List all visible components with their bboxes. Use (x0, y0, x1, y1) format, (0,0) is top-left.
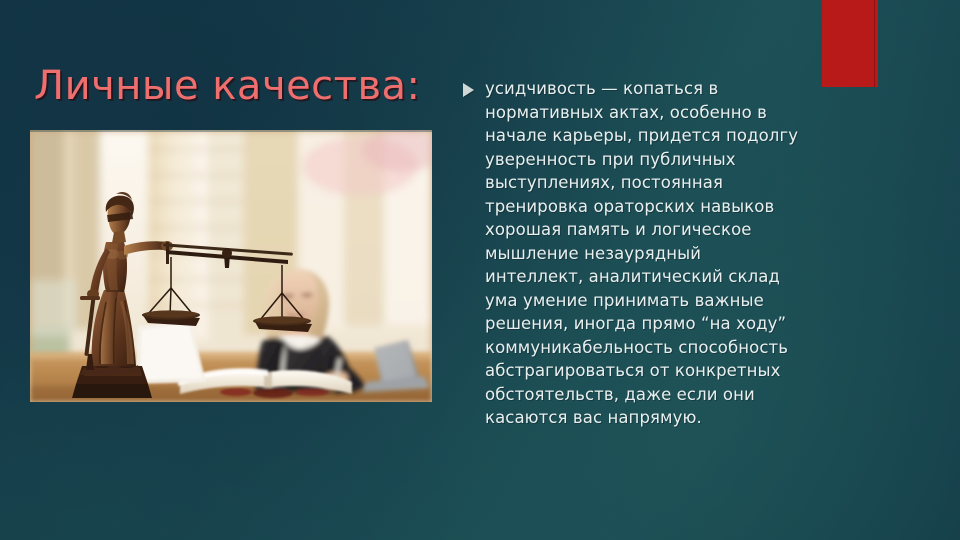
slide-title: Личные качества: (34, 63, 421, 109)
photo-illustration (30, 130, 432, 402)
triangle-bullet-icon (463, 83, 474, 97)
red-accent-block (822, 0, 878, 87)
bullet-content-block: усидчивость — копаться в нормативных акт… (463, 77, 803, 430)
bullet-text: усидчивость — копаться в нормативных акт… (485, 77, 803, 430)
bullet-marker (463, 83, 477, 97)
lady-justice-and-lawyer-photo (30, 130, 432, 402)
presentation-slide: Личные качества: (0, 0, 960, 540)
